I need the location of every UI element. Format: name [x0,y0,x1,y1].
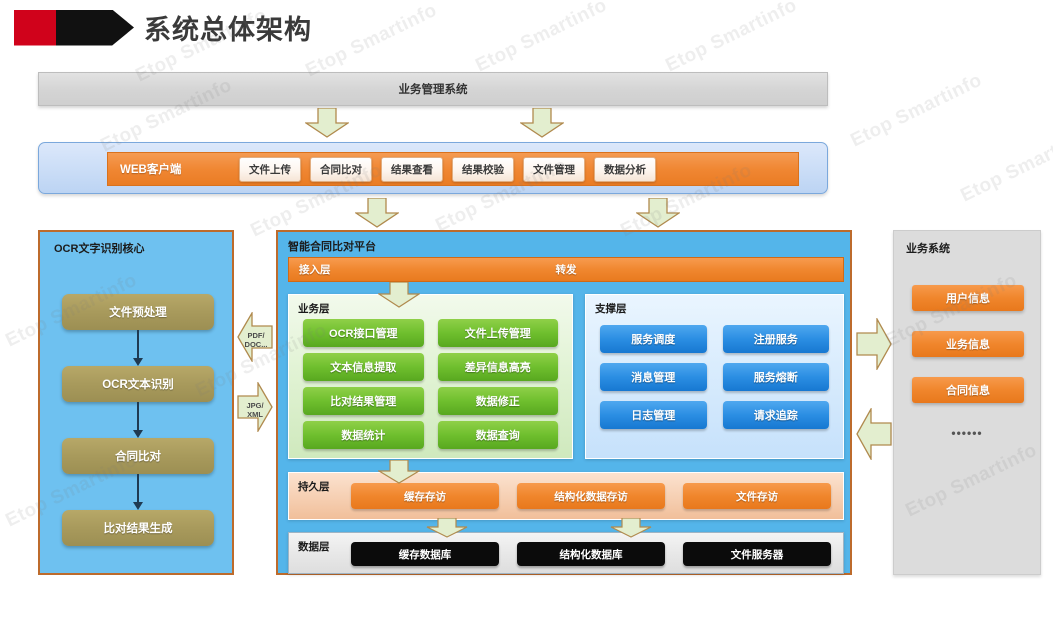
double-chevron-logo [14,10,134,46]
web-button-contract-compare[interactable]: 合同比对 [310,157,372,182]
page-title-row: 系统总体架构 [14,8,312,47]
business-system-item-business-info[interactable]: 业务信息 [912,331,1024,357]
ocr-step-file-preprocess[interactable]: 文件预处理 [62,294,214,330]
web-client-bar: WEB客户端 文件上传 合同比对 结果查看 结果校验 文件管理 数据分析 [107,152,799,186]
watermark: Etop Smartinfo [472,0,610,77]
business-system-title: 业务系统 [906,240,950,256]
jpg-xml-line2: XML [239,411,271,420]
biz-item-data-statistics[interactable]: 数据统计 [303,421,424,449]
data-layer-label: 数据层 [298,539,330,554]
persist-item-structured-data-access[interactable]: 结构化数据存访 [517,483,665,509]
biz-item-data-query[interactable]: 数据查询 [438,421,559,449]
arrow-down-persistence-to-data-2 [610,518,652,538]
data-layer-box: 数据层 缓存数据库 结构化数据库 文件服务器 [288,532,844,574]
watermark: Etop Smartinfo [302,0,440,82]
arrow-down-business-to-persistence [378,460,420,484]
web-client-panel: WEB客户端 文件上传 合同比对 结果查看 结果校验 文件管理 数据分析 [38,142,828,194]
sup-item-request-trace[interactable]: 请求追踪 [723,401,830,429]
arrow-left-from-business-system [856,408,892,460]
arrow-down-persistence-to-data-1 [426,518,468,538]
arrow-label-jpg-xml: JPG/ XML [239,402,271,419]
sup-item-service-schedule[interactable]: 服务调度 [600,325,707,353]
biz-item-ocr-api-manage[interactable]: OCR接口管理 [303,319,424,347]
platform-title: 智能合同比对平台 [288,238,376,254]
sup-item-log-manage[interactable]: 日志管理 [600,401,707,429]
biz-item-diff-highlight[interactable]: 差异信息高亮 [438,353,559,381]
business-management-system-label: 业务管理系统 [399,81,468,97]
support-layer-grid: 服务调度 注册服务 消息管理 服务熔断 日志管理 请求追踪 [600,325,829,429]
ocr-connector-3 [137,474,139,503]
sup-item-circuit-breaker[interactable]: 服务熔断 [723,363,830,391]
access-layer-forward-label: 转发 [289,262,843,277]
watermark: Etop Smartinfo [957,125,1053,208]
ocr-core-title: OCR文字识别核心 [54,240,144,256]
page-title: 系统总体架构 [144,8,312,47]
business-system-item-user-info[interactable]: 用户信息 [912,285,1024,311]
web-button-file-manage[interactable]: 文件管理 [523,157,585,182]
access-layer-bar: 接入层 转发 [288,257,844,282]
biz-item-file-upload-manage[interactable]: 文件上传管理 [438,319,559,347]
data-layer-row: 缓存数据库 结构化数据库 文件服务器 [351,542,831,566]
arrow-down-to-web-client-2 [520,108,564,138]
support-layer-box: 支撑层 服务调度 注册服务 消息管理 服务熔断 日志管理 请求追踪 [585,294,844,459]
ocr-core-panel: OCR文字识别核心 文件预处理 OCR文本识别 合同比对 比对结果生成 [38,230,234,575]
ocr-step-contract-compare[interactable]: 合同比对 [62,438,214,474]
arrow-down-to-platform-1 [355,198,399,228]
web-button-data-analysis[interactable]: 数据分析 [594,157,656,182]
business-layer-grid: OCR接口管理 文件上传管理 文本信息提取 差异信息高亮 比对结果管理 数据修正… [303,319,558,449]
business-system-item-contract-info[interactable]: 合同信息 [912,377,1024,403]
ocr-step-result-generate[interactable]: 比对结果生成 [62,510,214,546]
persistence-layer-label: 持久层 [298,479,330,494]
persist-item-file-access[interactable]: 文件存访 [683,483,831,509]
web-button-result-verify[interactable]: 结果校验 [452,157,514,182]
business-management-system-bar: 业务管理系统 [38,72,828,106]
business-layer-label: 业务层 [298,301,330,316]
watermark: Etop Smartinfo [847,70,985,153]
web-button-result-view[interactable]: 结果查看 [381,157,443,182]
persistence-layer-row: 缓存存访 结构化数据存访 文件存访 [351,483,831,509]
web-button-file-upload[interactable]: 文件上传 [239,157,301,182]
biz-item-compare-result-manage[interactable]: 比对结果管理 [303,387,424,415]
business-system-panel: 业务系统 用户信息 业务信息 合同信息 •••••• [893,230,1041,575]
support-layer-label: 支撑层 [595,301,627,316]
ocr-step-text-recognition[interactable]: OCR文本识别 [62,366,214,402]
data-item-file-server[interactable]: 文件服务器 [683,542,831,566]
biz-item-data-correction[interactable]: 数据修正 [438,387,559,415]
persistence-layer-box: 持久层 缓存存访 结构化数据存访 文件存访 [288,472,844,520]
web-client-label: WEB客户端 [120,161,230,177]
arrow-down-to-web-client-1 [305,108,349,138]
arrow-down-access-to-business [378,282,420,308]
arrow-label-pdf-doc: PDF/ DOC... [240,332,272,349]
ocr-connector-2 [137,402,139,431]
business-layer-box: 业务层 OCR接口管理 文件上传管理 文本信息提取 差异信息高亮 比对结果管理 … [288,294,573,459]
persist-item-cache-access[interactable]: 缓存存访 [351,483,499,509]
chevron-black-icon [56,10,134,46]
platform-panel: 智能合同比对平台 接入层 转发 业务层 OCR接口管理 文件上传管理 文本信息提… [276,230,852,575]
business-system-more-indicator: •••••• [894,426,1040,440]
ocr-connector-1 [137,330,139,359]
arrow-down-to-platform-2 [636,198,680,228]
sup-item-message-manage[interactable]: 消息管理 [600,363,707,391]
data-item-cache-db[interactable]: 缓存数据库 [351,542,499,566]
arrow-right-to-business-system [856,318,892,370]
data-item-structured-db[interactable]: 结构化数据库 [517,542,665,566]
watermark: Etop Smartinfo [662,0,800,77]
sup-item-register-service[interactable]: 注册服务 [723,325,830,353]
biz-item-text-info-extract[interactable]: 文本信息提取 [303,353,424,381]
pdf-doc-line2: DOC... [240,341,272,350]
